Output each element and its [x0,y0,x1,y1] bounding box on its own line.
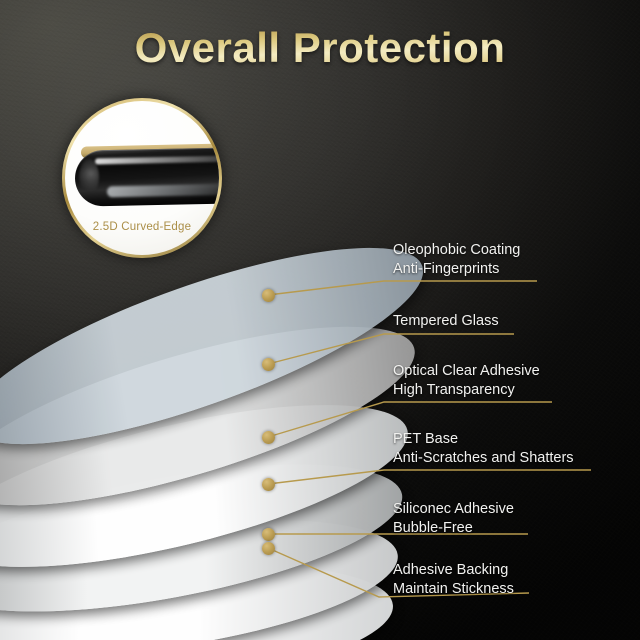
callout-dot-pet-base[interactable] [262,478,275,491]
callout-label-line2-optical-clear-adhesive: High Transparency [393,381,540,400]
callout-dot-adhesive-backing[interactable] [262,542,275,555]
callout-label-line1-pet-base: PET Base [393,430,574,449]
product-infographic: Overall Protection 2.5D Curved-Edge Oleo… [0,0,640,640]
callout-label-line2-oleophobic-coating: Anti-Fingerprints [393,260,520,279]
callout-label-optical-clear-adhesive: Optical Clear AdhesiveHigh Transparency [393,362,540,400]
callout-dot-optical-clear-adhesive[interactable] [262,431,275,444]
callout-dot-oleophobic-coating[interactable] [262,289,275,302]
callout-label-line1-siliconec-adhesive: Siliconec Adhesive [393,500,514,519]
callout-label-line2-siliconec-adhesive: Bubble-Free [393,519,514,538]
callout-label-tempered-glass: Tempered Glass [393,312,499,331]
callout-label-pet-base: PET BaseAnti-Scratches and Shatters [393,430,574,468]
callout-group: Oleophobic CoatingAnti-FingerprintsTempe… [0,0,640,640]
callout-label-oleophobic-coating: Oleophobic CoatingAnti-Fingerprints [393,241,520,279]
callout-dot-tempered-glass[interactable] [262,358,275,371]
callout-label-line1-adhesive-backing: Adhesive Backing [393,561,514,580]
callout-label-line1-oleophobic-coating: Oleophobic Coating [393,241,520,260]
callout-dot-siliconec-adhesive[interactable] [262,528,275,541]
callout-label-line1-tempered-glass: Tempered Glass [393,312,499,331]
callout-label-line2-adhesive-backing: Maintain Stickness [393,580,514,599]
callout-label-line2-pet-base: Anti-Scratches and Shatters [393,449,574,468]
callout-label-siliconec-adhesive: Siliconec AdhesiveBubble-Free [393,500,514,538]
callout-label-adhesive-backing: Adhesive BackingMaintain Stickness [393,561,514,599]
callout-label-line1-optical-clear-adhesive: Optical Clear Adhesive [393,362,540,381]
